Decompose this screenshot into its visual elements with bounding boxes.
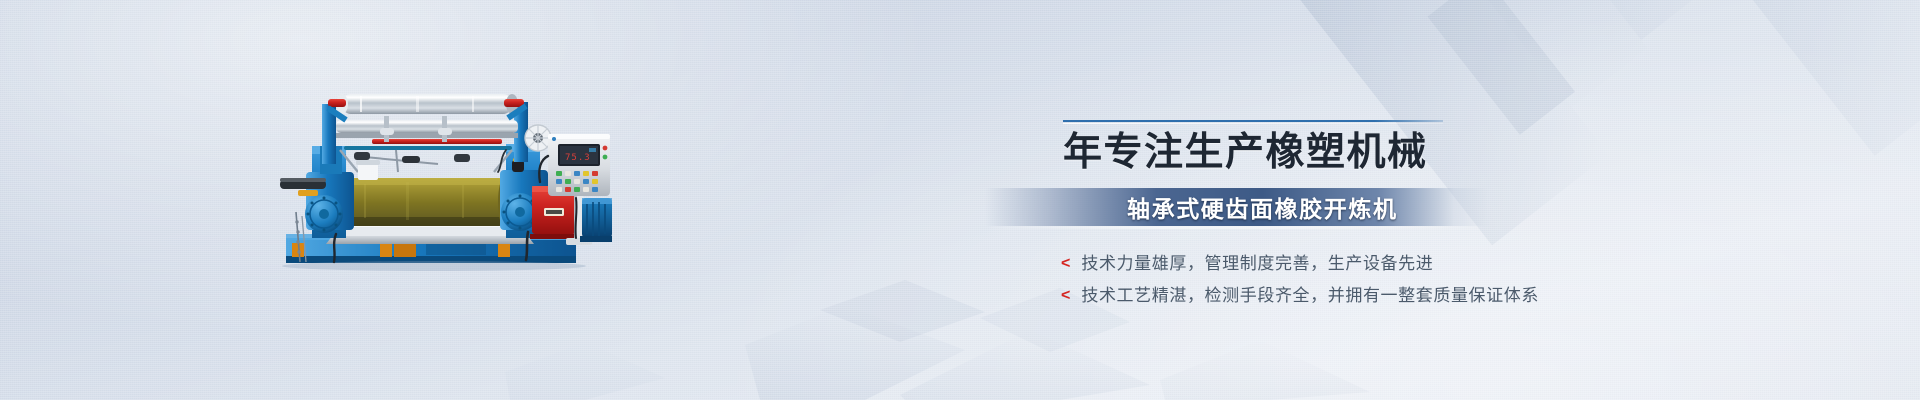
page-title: 年专注生产橡塑机械 <box>1063 130 1623 176</box>
headline-divider-highlight <box>1063 123 1443 124</box>
chevron-right-icon: < <box>1061 288 1070 304</box>
machine-hopper <box>356 160 380 180</box>
machine-illustration: 75.3 <box>276 86 612 272</box>
machine-motor-gearbox <box>580 198 612 242</box>
subtitle-banner: 轴承式硬齿面橡胶开炼机 <box>985 188 1489 226</box>
list-item: < 技术工艺精湛，检测手段齐全，并拥有一整套质量保证体系 <box>1061 287 1539 305</box>
chevron-right-icon: < <box>1061 256 1070 272</box>
machine-top-roller-assembly <box>322 94 551 172</box>
list-item-label: 技术力量雄厚，管理制度完善，生产设备先进 <box>1081 255 1433 272</box>
decor-slab-group-corner <box>1702 0 1920 156</box>
banner-copy: 年专注生产橡塑机械 轴承式硬齿面橡胶开炼机 < 技术力量雄厚，管理制度完善，生产… <box>1063 120 1623 176</box>
svg-text:75.3: 75.3 <box>565 153 591 163</box>
machine-mixing-roller <box>342 178 510 226</box>
product-photo: 75.3 <box>276 86 612 272</box>
list-item-label: 技术工艺精湛，检测手段齐全，并拥有一整套质量保证体系 <box>1081 287 1539 304</box>
feature-list: < 技术力量雄厚，管理制度完善，生产设备先进 < 技术工艺精湛，检测手段齐全，并… <box>1061 255 1539 319</box>
list-item: < 技术力量雄厚，管理制度完善，生产设备先进 <box>1061 255 1539 273</box>
headline-divider <box>1063 120 1443 122</box>
promo-banner: 75.3 <box>0 0 1920 400</box>
subtitle-text: 轴承式硬齿面橡胶开炼机 <box>1127 190 1398 224</box>
